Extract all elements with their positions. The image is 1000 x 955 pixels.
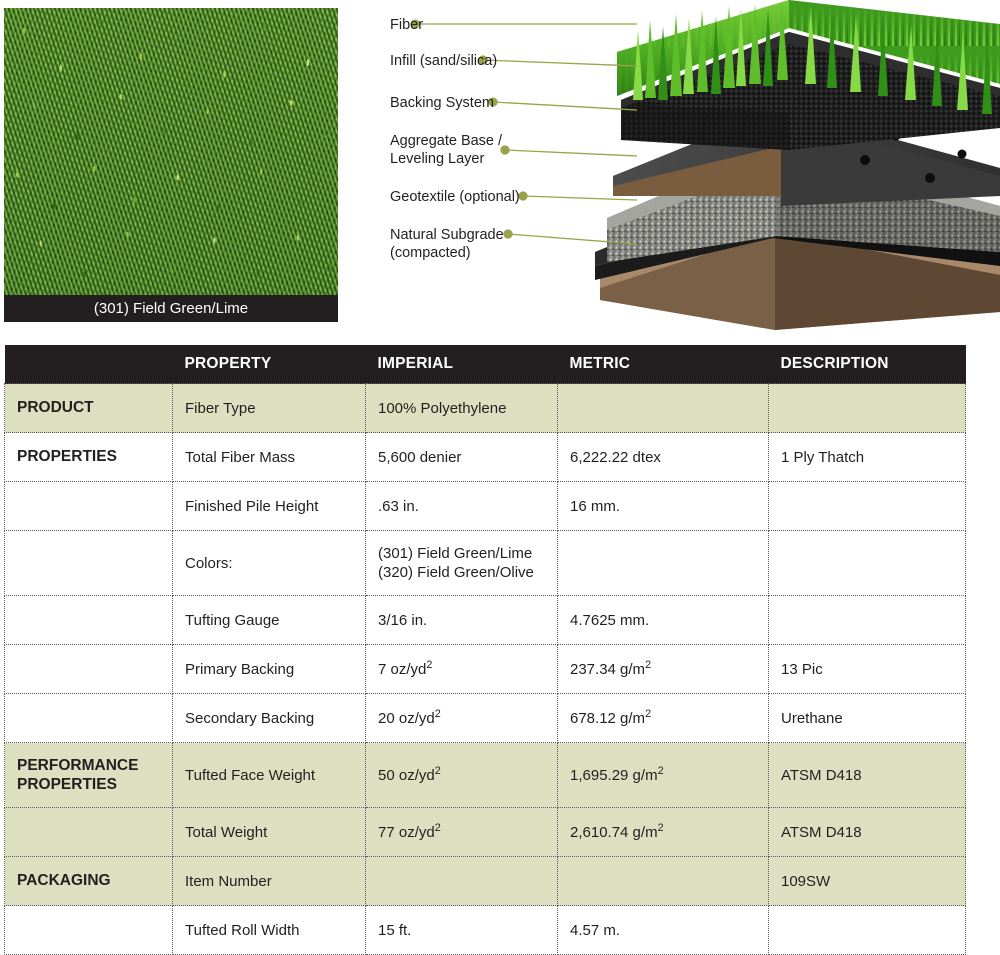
row-description: 1 Ply Thatch — [769, 433, 966, 482]
row-imperial — [366, 857, 558, 906]
turf-swatch-image — [4, 8, 338, 295]
diagram-label-fiber: Fiber — [390, 16, 423, 34]
table-row: Colors: (301) Field Green/Lime (320) Fie… — [5, 531, 966, 596]
row-group-label: PROPERTIES — [5, 433, 173, 482]
diagram-label-natural-subgrade: Natural Subgrade (compacted) — [390, 226, 504, 262]
table-row: PACKAGING Item Number 109SW — [5, 857, 966, 906]
row-imperial-colors: (301) Field Green/Lime (320) Field Green… — [366, 531, 558, 596]
diagram-label-backing-system: Backing System — [390, 94, 494, 112]
row-group-label: PRODUCT — [5, 384, 173, 433]
row-metric: 6,222.22 dtex — [558, 433, 769, 482]
row-property: Total Fiber Mass — [173, 433, 366, 482]
header-description: DESCRIPTION — [769, 345, 966, 384]
row-description: ATSM D418 — [769, 808, 966, 857]
row-group-label: PERFORMANCE PROPERTIES — [5, 743, 173, 808]
header-group — [5, 345, 173, 384]
row-property: Fiber Type — [173, 384, 366, 433]
row-imperial: 100% Polyethylene — [366, 384, 558, 433]
row-metric — [558, 384, 769, 433]
row-description — [769, 596, 966, 645]
table-row: Tufted Roll Width 15 ft. 4.57 m. — [5, 906, 966, 955]
row-metric — [558, 857, 769, 906]
turf-system-diagram: Fiber Infill (sand/silica) Backing Syste… — [345, 0, 1000, 340]
table-row: Total Weight 77 oz/yd2 2,610.74 g/m2 ATS… — [5, 808, 966, 857]
diagram-label-geotextile: Geotextile (optional) — [390, 188, 520, 206]
table-row: PRODUCT Fiber Type 100% Polyethylene — [5, 384, 966, 433]
row-group-label — [5, 906, 173, 955]
row-imperial: 7 oz/yd2 — [366, 645, 558, 694]
row-property: Secondary Backing — [173, 694, 366, 743]
row-property: Primary Backing — [173, 645, 366, 694]
row-group-label — [5, 645, 173, 694]
row-description: Urethane — [769, 694, 966, 743]
row-imperial: 77 oz/yd2 — [366, 808, 558, 857]
row-group-label — [5, 482, 173, 531]
diagram-label-infill: Infill (sand/silica) — [390, 52, 497, 70]
row-imperial: 20 oz/yd2 — [366, 694, 558, 743]
row-imperial: 15 ft. — [366, 906, 558, 955]
row-property: Item Number — [173, 857, 366, 906]
color-option-301: (301) Field Green/Lime — [378, 544, 557, 563]
row-property: Tufted Roll Width — [173, 906, 366, 955]
row-metric — [558, 531, 769, 596]
row-group-label — [5, 694, 173, 743]
product-visual-area: (301) Field Green/Lime — [0, 0, 1000, 340]
row-property: Tufted Face Weight — [173, 743, 366, 808]
row-group-label: PACKAGING — [5, 857, 173, 906]
row-metric: 2,610.74 g/m2 — [558, 808, 769, 857]
diagram-label-aggregate-base: Aggregate Base / Leveling Layer — [390, 132, 502, 168]
row-property: Finished Pile Height — [173, 482, 366, 531]
turf-swatch-caption: (301) Field Green/Lime — [4, 295, 338, 322]
row-metric: 16 mm. — [558, 482, 769, 531]
row-description: 13 Pic — [769, 645, 966, 694]
row-group-label — [5, 808, 173, 857]
row-imperial: 3/16 in. — [366, 596, 558, 645]
header-imperial: IMPERIAL — [366, 345, 558, 384]
row-group-label — [5, 531, 173, 596]
table-row: PERFORMANCE PROPERTIES Tufted Face Weigh… — [5, 743, 966, 808]
row-property: Colors: — [173, 531, 366, 596]
header-metric: METRIC — [558, 345, 769, 384]
row-metric: 1,695.29 g/m2 — [558, 743, 769, 808]
row-metric: 4.57 m. — [558, 906, 769, 955]
table-header-row: PROPERTY IMPERIAL METRIC DESCRIPTION — [5, 345, 966, 384]
row-description — [769, 531, 966, 596]
color-option-320: (320) Field Green/Olive — [378, 563, 557, 582]
row-metric: 4.7625 mm. — [558, 596, 769, 645]
row-description: ATSM D418 — [769, 743, 966, 808]
table-row: Secondary Backing 20 oz/yd2 678.12 g/m2 … — [5, 694, 966, 743]
table-row: Primary Backing 7 oz/yd2 237.34 g/m2 13 … — [5, 645, 966, 694]
header-property: PROPERTY — [173, 345, 366, 384]
layer-fiber — [617, 0, 1000, 114]
row-metric: 678.12 g/m2 — [558, 694, 769, 743]
row-property: Total Weight — [173, 808, 366, 857]
table-row: PROPERTIES Total Fiber Mass 5,600 denier… — [5, 433, 966, 482]
row-imperial: .63 in. — [366, 482, 558, 531]
row-metric: 237.34 g/m2 — [558, 645, 769, 694]
table-row: Finished Pile Height .63 in. 16 mm. — [5, 482, 966, 531]
row-description: 109SW — [769, 857, 966, 906]
row-description — [769, 482, 966, 531]
table-row: Tufting Gauge 3/16 in. 4.7625 mm. — [5, 596, 966, 645]
row-property: Tufting Gauge — [173, 596, 366, 645]
row-description — [769, 906, 966, 955]
turf-swatch-block: (301) Field Green/Lime — [4, 8, 338, 322]
row-group-label — [5, 596, 173, 645]
row-imperial: 50 oz/yd2 — [366, 743, 558, 808]
specification-table: PROPERTY IMPERIAL METRIC DESCRIPTION PRO… — [4, 345, 966, 955]
row-imperial: 5,600 denier — [366, 433, 558, 482]
row-description — [769, 384, 966, 433]
